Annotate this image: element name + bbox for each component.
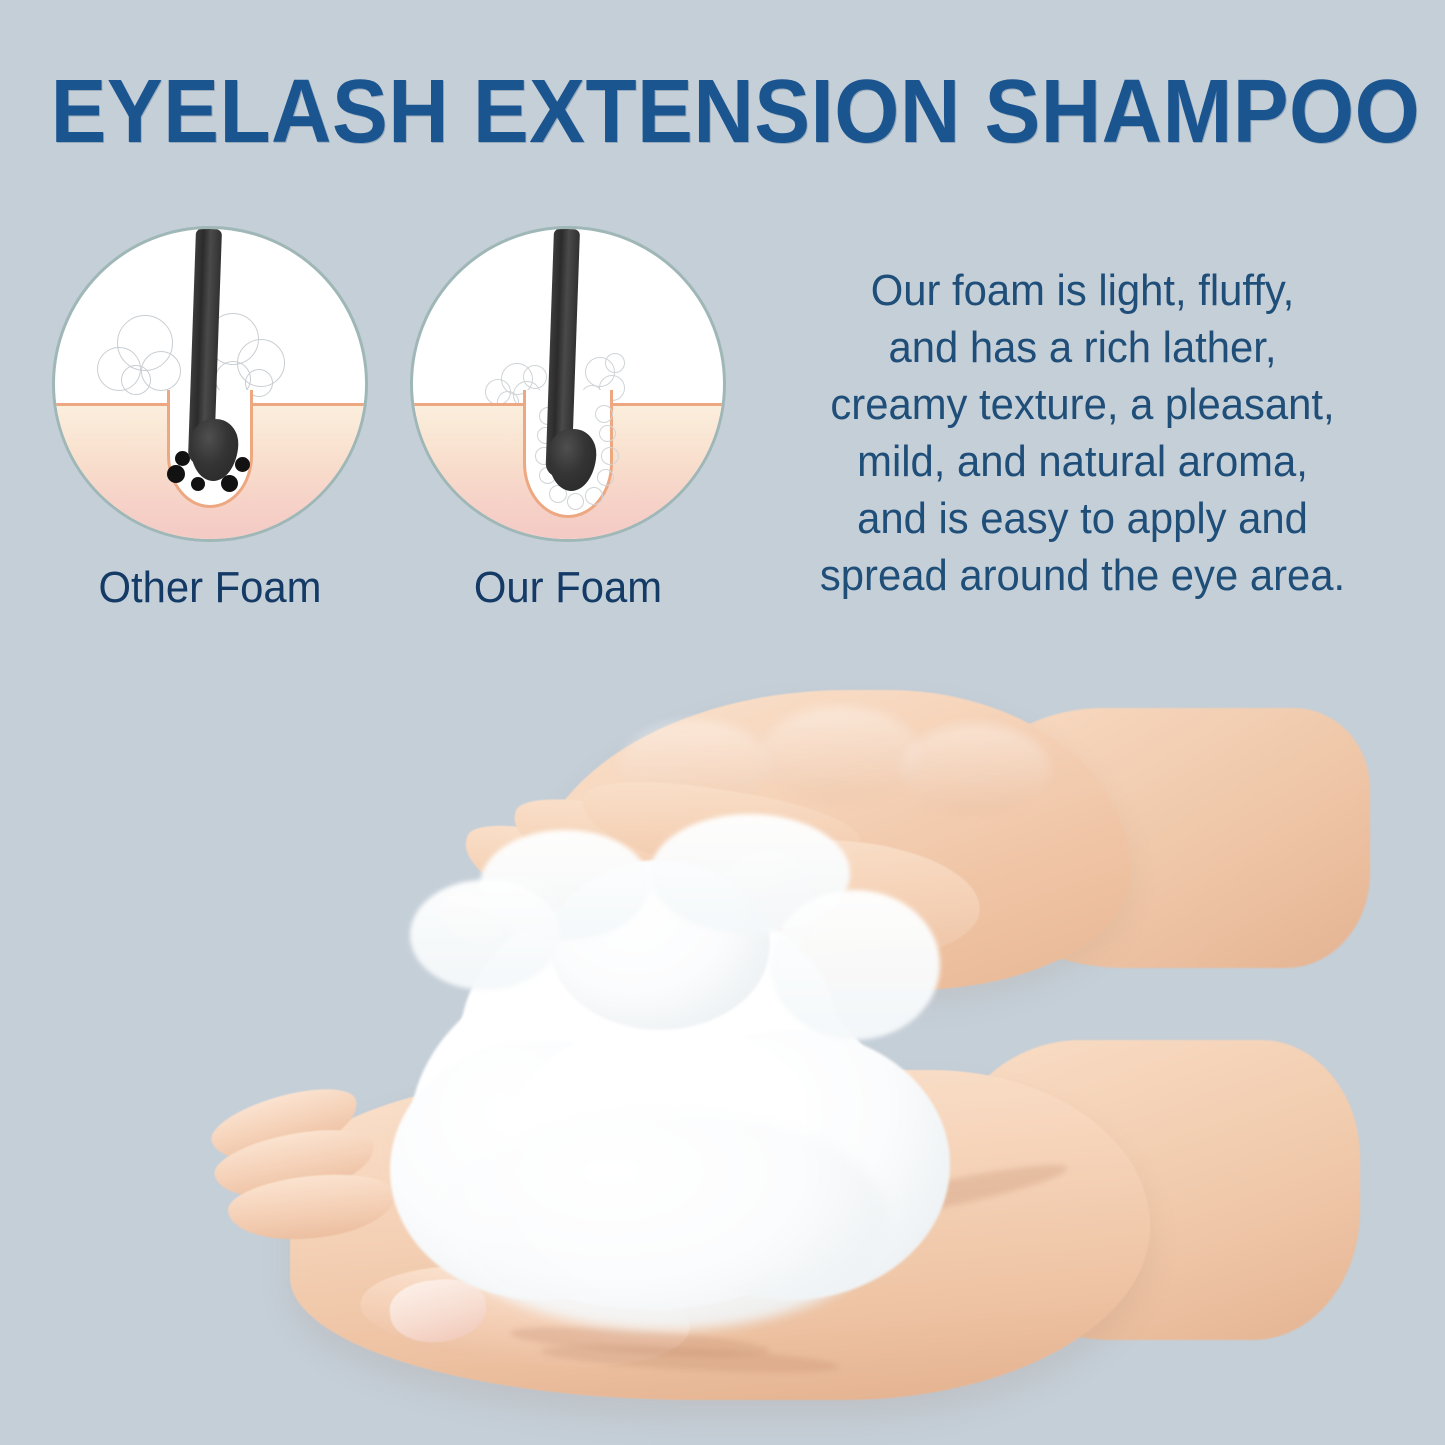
follicle-illustration-our (410, 226, 726, 542)
bubble-icon (601, 447, 619, 465)
bubble-icon (585, 487, 603, 505)
description-line: and is easy to apply and (786, 490, 1380, 547)
description-line: and has a rich lather, (786, 319, 1380, 376)
dirt-particle-icon (167, 465, 185, 483)
description-line: spread around the eye area. (786, 547, 1380, 604)
bubble-icon (599, 425, 616, 442)
foam-wisp (410, 880, 560, 990)
caption-other-foam: Other Foam (60, 562, 360, 614)
dirt-particle-icon (235, 457, 250, 472)
bubble-icon (605, 353, 625, 373)
dirt-particle-icon (191, 477, 205, 491)
comparison-diagram-our-foam (410, 226, 726, 542)
description-line: creamy texture, a pleasant, (786, 376, 1380, 433)
knuckle (900, 724, 1050, 814)
hands-holding-foam-photo (0, 630, 1445, 1445)
follicle-illustration-other (52, 226, 368, 542)
product-infographic: EYELASH EXTENSION SHAMPOO (0, 0, 1445, 1445)
bubble-icon (523, 365, 547, 389)
description-line: Our foam is light, fluffy, (786, 262, 1380, 319)
foam-mound (350, 860, 970, 1340)
foam-wisp (770, 890, 940, 1040)
page-title: EYELASH EXTENSION SHAMPOO (51, 62, 1395, 162)
product-description: Our foam is light, fluffy, and has a ric… (786, 262, 1380, 604)
bubble-icon (595, 405, 613, 423)
foam-blob (440, 1110, 890, 1330)
description-line: mild, and natural aroma, (786, 433, 1380, 490)
bubble-icon (567, 493, 584, 510)
bubble-icon (597, 469, 614, 486)
bubble-icon (121, 365, 151, 395)
caption-our-foam: Our Foam (418, 562, 718, 614)
dirt-particle-icon (221, 475, 238, 492)
knuckle (760, 706, 920, 802)
comparison-diagram-other-foam (52, 226, 368, 542)
